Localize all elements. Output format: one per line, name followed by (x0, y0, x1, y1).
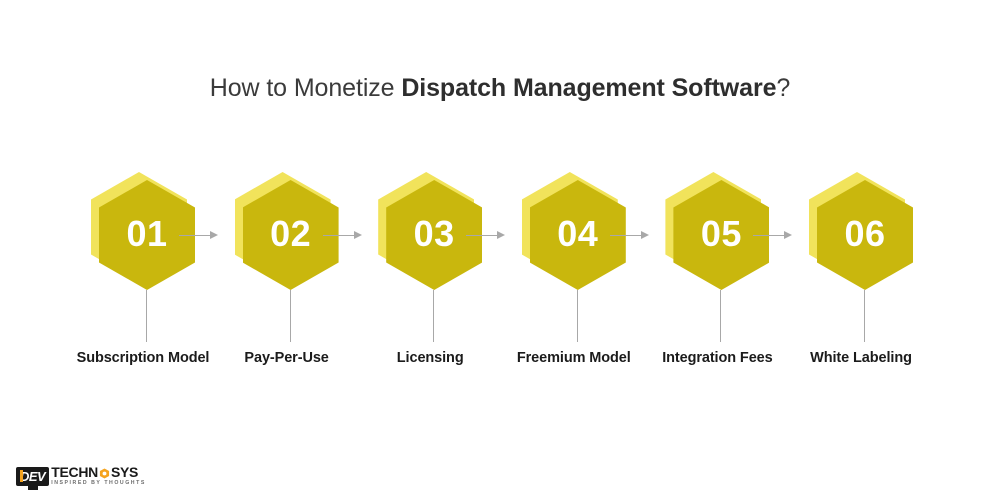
step-number: 05 (701, 216, 742, 252)
step-arrow-icon (610, 231, 650, 241)
page-title: How to Monetize Dispatch Management Soft… (0, 74, 1000, 103)
process-step-02[interactable]: 02Pay-Per-Use (215, 160, 359, 400)
arrow-shaft (466, 235, 499, 236)
step-connector-stem (720, 290, 721, 342)
step-number: 02 (270, 216, 311, 252)
title-emphasis: Dispatch Management Software (401, 74, 776, 102)
logo-company-name: TECHN SYS (51, 465, 146, 479)
step-number: 01 (126, 216, 167, 252)
step-connector-stem (290, 290, 291, 342)
logo-wordmark: TECHN SYS INSPIRED BY THOUGHTS (51, 465, 146, 486)
logo-name-part2: SYS (111, 465, 138, 479)
logo-tagline: INSPIRED BY THOUGHTS (51, 481, 146, 486)
process-step-06[interactable]: 06White Labeling (789, 160, 933, 400)
brand-logo: DEV TECHN SYS INSPIRED BY THOUGHTS (16, 463, 146, 489)
step-connector-stem (146, 290, 147, 342)
logo-mark-text: DEV (20, 470, 45, 483)
step-number: 04 (557, 216, 598, 252)
logo-name-part1: TECHN (51, 465, 98, 479)
step-connector-stem (433, 290, 434, 342)
logo-accent-bar (20, 470, 23, 482)
arrow-shaft (753, 235, 786, 236)
hexagon-badge[interactable]: 06 (809, 172, 913, 290)
process-step-05[interactable]: 05Integration Fees (645, 160, 789, 400)
step-arrow-icon (179, 231, 219, 241)
title-lead: How to Monetize (210, 74, 402, 102)
arrow-shaft (323, 235, 356, 236)
step-arrow-icon (323, 231, 363, 241)
process-step-04[interactable]: 04Freemium Model (502, 160, 646, 400)
title-tail: ? (776, 74, 790, 102)
step-connector-stem (864, 290, 865, 342)
step-label: White Labeling (771, 348, 951, 369)
step-connector-stem (577, 290, 578, 342)
arrow-shaft (179, 235, 212, 236)
process-steps-row: 01Subscription Model02Pay-Per-Use03Licen… (0, 160, 1000, 400)
arrow-shaft (610, 235, 643, 236)
step-number: 06 (844, 216, 885, 252)
hexagon-gear-icon (99, 467, 110, 478)
step-number: 03 (414, 216, 455, 252)
logo-monitor-icon: DEV (16, 467, 49, 486)
process-step-01[interactable]: 01Subscription Model (71, 160, 215, 400)
step-arrow-icon (466, 231, 506, 241)
step-arrow-icon (753, 231, 793, 241)
process-step-03[interactable]: 03Licensing (358, 160, 502, 400)
